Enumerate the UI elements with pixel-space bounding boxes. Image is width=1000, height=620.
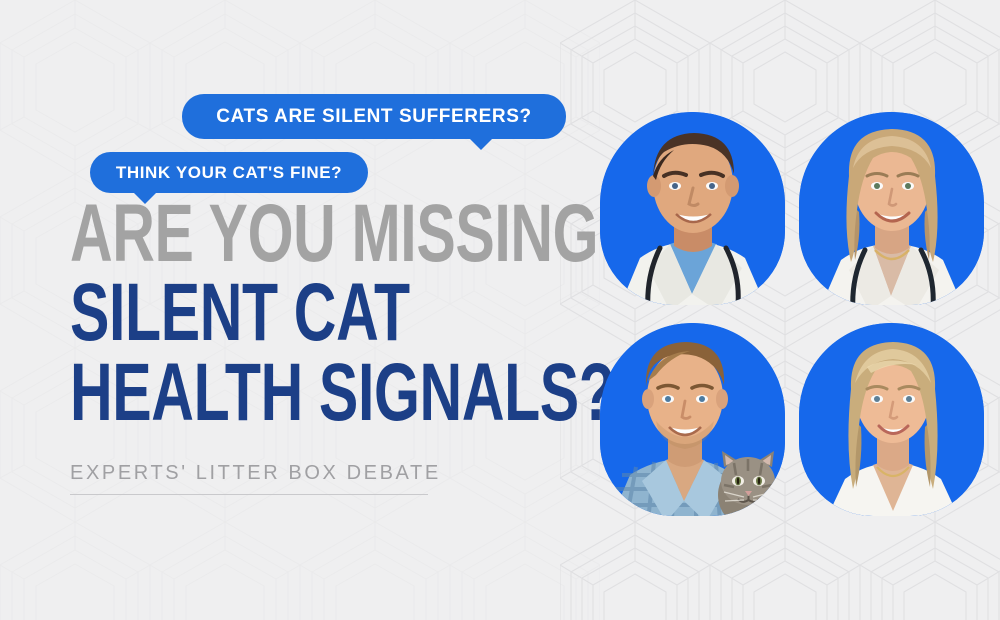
caption-block: EXPERTS' LITTER BOX DEBATE [70, 462, 428, 495]
avatar-male-veterinarian-with-stethoscope: Smiling male veterinarian in white coat … [600, 112, 785, 305]
avatar-female-expert-blonde: Smiling blonde woman in white top [799, 323, 984, 516]
caption-text: EXPERTS' LITTER BOX DEBATE [70, 462, 428, 494]
headline-line-1: ARE YOU MISSING [70, 196, 444, 271]
speech-bubble-secondary-text: THINK YOUR CAT'S FINE? [116, 163, 342, 183]
cat-illustration [718, 451, 778, 516]
promo-banner: CATS ARE SILENT SUFFERERS? THINK YOUR CA… [0, 0, 1000, 620]
caption-underline-divider [70, 494, 428, 495]
avatar-female-veterinarian-with-stethoscope: Smiling blonde female veterinarian in wh… [799, 112, 984, 305]
headline-line-2: SILENT CAT [70, 275, 444, 350]
headline-line-3: HEALTH SIGNALS? [70, 355, 444, 430]
speech-bubble-primary: CATS ARE SILENT SUFFERERS? [182, 94, 566, 139]
avatar-2-alt: Smiling blonde female veterinarian in wh… [799, 112, 800, 113]
speech-bubble-secondary: THINK YOUR CAT'S FINE? [90, 152, 368, 193]
expert-avatar-grid: Smiling male veterinarian in white coat … [600, 112, 988, 512]
avatar-1-alt: Smiling male veterinarian in white coat … [600, 112, 601, 113]
avatar-3-alt: Smiling man in plaid shirt holding a tab… [600, 323, 601, 324]
speech-bubble-primary-text: CATS ARE SILENT SUFFERERS? [216, 106, 531, 128]
headline-block: ARE YOU MISSING SILENT CAT HEALTH SIGNAL… [70, 196, 590, 434]
avatar-male-expert-holding-cat: Smiling man in plaid shirt holding a tab… [600, 323, 785, 516]
left-content-column: CATS ARE SILENT SUFFERERS? THINK YOUR CA… [0, 0, 600, 620]
avatar-4-alt: Smiling blonde woman in white top [799, 323, 800, 324]
speech-bubble-tail-icon [468, 137, 494, 150]
